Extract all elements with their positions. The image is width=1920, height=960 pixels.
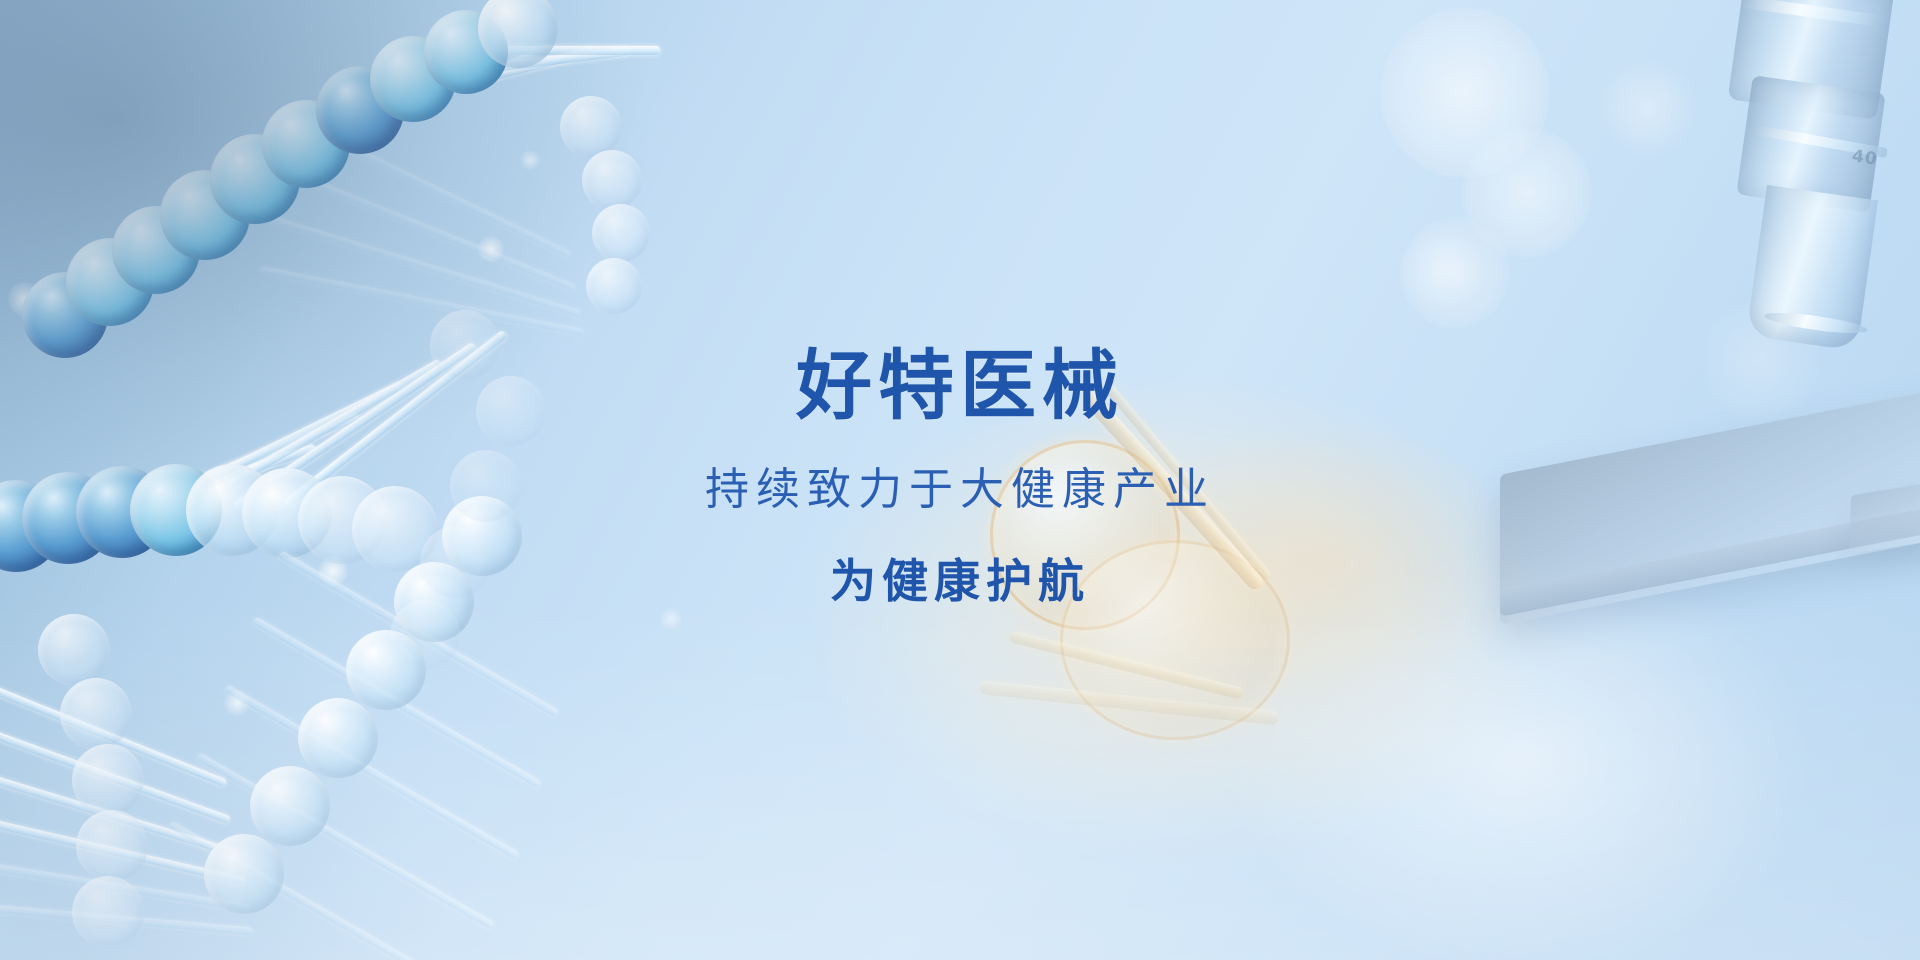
hero-slogan: 为健康护航 — [0, 558, 1920, 604]
hero-subtitle: 持续致力于大健康产业 — [0, 468, 1920, 512]
page-title: 好特医械 — [0, 348, 1920, 424]
hero-banner: 40 好特医械 持续致力于大健康产业 为健康护航 — [0, 0, 1920, 960]
hero-text-block: 好特医械 持续致力于大健康产业 为健康护航 — [0, 348, 1920, 604]
